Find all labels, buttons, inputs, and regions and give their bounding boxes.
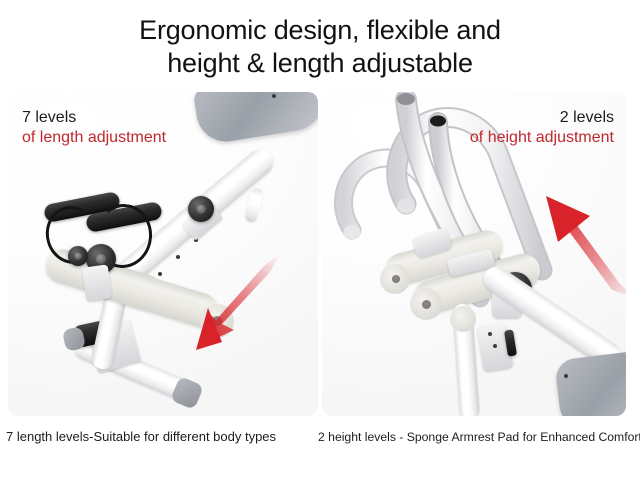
label-length-line2: of length adjustment	[22, 128, 166, 148]
panel-height-adjustment: 2 levels of height adjustment	[322, 92, 626, 416]
label-length-adjustment: 7 levels of length adjustment	[22, 108, 166, 148]
label-height-line2: of height adjustment	[470, 128, 614, 148]
arrow-length-direction	[172, 250, 288, 360]
label-height-line1: 2 levels	[470, 108, 614, 128]
armrest-pad-upper-hole	[392, 275, 400, 283]
seat-bolt	[272, 94, 276, 98]
lower-pin-hole-2	[493, 344, 497, 348]
armrest-pad-lower-hole	[422, 300, 431, 309]
caption-height: 2 height levels - Sponge Armrest Pad for…	[318, 428, 640, 446]
label-height-adjustment: 2 levels of height adjustment	[470, 108, 614, 148]
page-title: Ergonomic design, flexible and height & …	[0, 14, 640, 80]
frame-stub	[244, 187, 264, 223]
length-adjust-knob	[188, 196, 214, 222]
title-line-1: Ergonomic design, flexible and	[0, 14, 640, 47]
panel-length-adjustment: 7 levels of length adjustment	[8, 92, 318, 416]
base-plate	[554, 348, 626, 416]
caption-length: 7 length levels-Suitable for different b…	[6, 428, 276, 446]
base-plate-bolt	[564, 374, 568, 378]
label-length-line1: 7 levels	[22, 108, 166, 128]
arrow-height-direction	[528, 172, 626, 302]
handle-clamp-bracket	[82, 264, 112, 301]
seat-pad	[192, 92, 318, 146]
pivot-cap	[450, 306, 476, 332]
adjust-hole-3	[158, 272, 162, 276]
lower-pin-hole-1	[488, 332, 492, 336]
title-line-2: height & length adjustable	[0, 47, 640, 80]
band-hub-knob-secondary	[68, 246, 88, 266]
